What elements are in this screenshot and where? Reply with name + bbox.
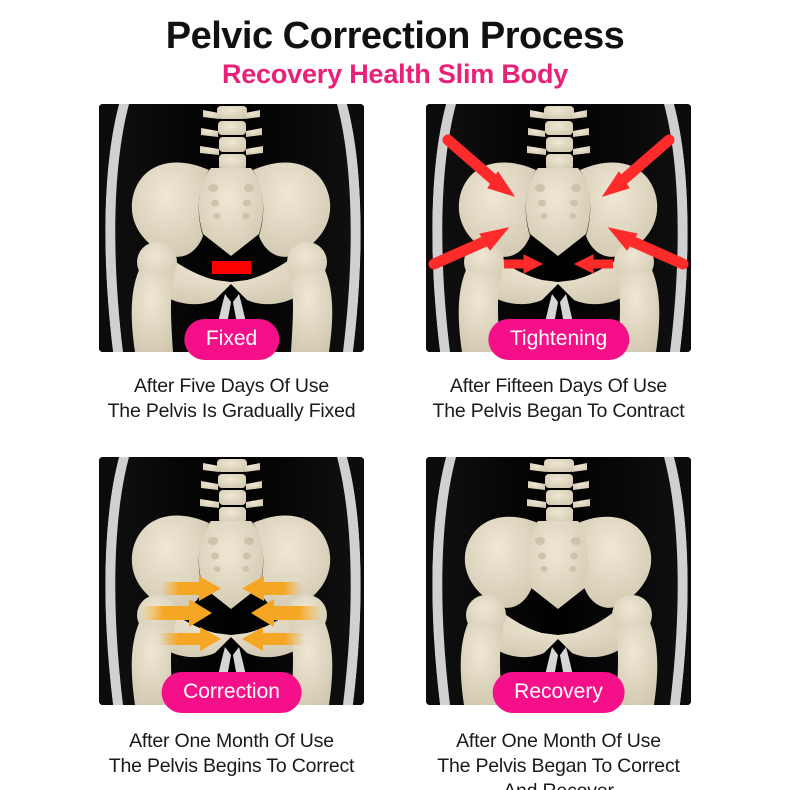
panel-cell-fixed: Fixed After Five Days Of Use The Pelvis … <box>99 104 364 424</box>
badge-recovery[interactable]: Recovery <box>492 672 625 713</box>
page-subtitle: Recovery Health Slim Body <box>0 60 790 90</box>
pelvis-xray-image-3 <box>99 457 364 705</box>
caption-tightening: After Fifteen Days Of Use The Pelvis Beg… <box>426 374 691 424</box>
panel-tightening: Tightening <box>426 104 691 352</box>
panel-image-clip <box>99 457 364 705</box>
panel-fixed: Fixed <box>99 104 364 352</box>
header: Pelvic Correction Process Recovery Healt… <box>0 0 790 90</box>
page-title: Pelvic Correction Process <box>0 16 790 56</box>
panel-image-clip <box>99 104 364 352</box>
panel-correction: Correction <box>99 457 364 705</box>
panel-recovery: Recovery <box>426 457 691 705</box>
panel-cell-correction: Correction After One Month Of Use The Pe… <box>99 457 364 790</box>
badge-fixed[interactable]: Fixed <box>184 319 279 360</box>
infographic-page: Pelvic Correction Process Recovery Healt… <box>0 0 790 790</box>
pelvis-xray-image-1 <box>99 104 364 352</box>
caption-correction: After One Month Of Use The Pelvis Begins… <box>99 729 364 779</box>
panel-grid: Fixed After Five Days Of Use The Pelvis … <box>0 104 790 790</box>
caption-fixed: After Five Days Of Use The Pelvis Is Gra… <box>99 374 364 424</box>
badge-tightening[interactable]: Tightening <box>488 319 629 360</box>
pelvis-xray-image-4 <box>426 457 691 705</box>
panel-cell-tightening: Tightening After Fifteen Days Of Use The… <box>426 104 691 424</box>
panel-image-clip <box>426 104 691 352</box>
pelvis-xray-image-2 <box>426 104 691 352</box>
panel-cell-recovery: Recovery After One Month Of Use The Pelv… <box>426 457 691 790</box>
badge-correction[interactable]: Correction <box>161 672 302 713</box>
panel-image-clip <box>426 457 691 705</box>
caption-recovery: After One Month Of Use The Pelvis Began … <box>426 729 691 790</box>
red-marker-bar <box>212 261 251 274</box>
